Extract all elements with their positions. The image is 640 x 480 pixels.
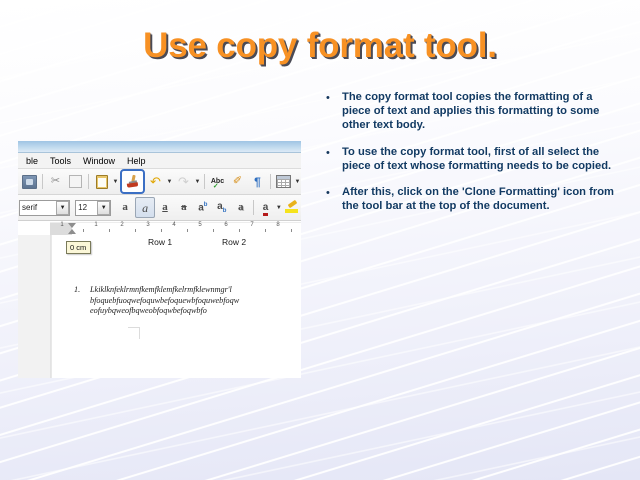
ruler-tick-label: 2 (120, 222, 123, 228)
toolbar-separator (270, 174, 271, 189)
bullet-text: To use the copy format tool, first of al… (342, 145, 618, 173)
document-body-text[interactable]: 1. Lkiklknfeklrmnfkemfklemfkelrmfklewnmg… (90, 285, 300, 317)
toolbar-separator (42, 174, 43, 189)
bullet-list: • The copy format tool copies the format… (326, 90, 618, 225)
insert-table-dropdown-icon[interactable]: ▼ (294, 179, 301, 185)
body-line: eofuybqweofbqweobfoqwbefoqwbfo (90, 306, 300, 317)
bullet-text: After this, click on the 'Clone Formatti… (342, 185, 618, 213)
ruler-tick-label: 8 (276, 222, 279, 228)
table-column-header-row2: Row 2 (222, 237, 246, 247)
print-preview-icon[interactable] (20, 172, 39, 191)
italic-button[interactable]: a (135, 197, 155, 218)
horizontal-ruler[interactable]: 1 1 2 3 4 5 6 7 8 (50, 222, 301, 236)
formatting-marks-icon[interactable]: ¶ (248, 172, 267, 191)
highlighting-button[interactable] (283, 198, 301, 217)
document-page[interactable]: Row 1 Row 2 0 cm 1. Lkiklknfeklrmnfkemfk… (51, 235, 301, 378)
undo-dropdown-icon[interactable]: ▼ (166, 179, 173, 185)
clone-formatting-icon[interactable] (120, 169, 145, 194)
menu-item-help[interactable]: Help (121, 156, 152, 166)
autospellcheck-icon[interactable]: ✐ (228, 172, 247, 191)
font-size-field[interactable]: 12 ▼ (75, 200, 111, 216)
document-area: Row 1 Row 2 0 cm 1. Lkiklknfeklrmnfkemfk… (18, 235, 301, 378)
underline-button[interactable]: a (156, 198, 174, 217)
list-item: • After this, click on the 'Clone Format… (326, 185, 618, 213)
ruler-left-gutter (18, 221, 50, 235)
spelling-icon[interactable]: Abc (208, 172, 227, 191)
text-boundary-corner-mark (128, 327, 140, 339)
font-size-value: 12 (78, 203, 87, 212)
bullet-text: The copy format tool copies the formatti… (342, 90, 618, 133)
copy-icon[interactable] (66, 172, 85, 191)
body-line: Lkiklknfeklrmnfkemfklemfkelrmfklewnmgr'l (90, 285, 300, 296)
font-color-dropdown-icon[interactable]: ▼ (276, 205, 283, 211)
formatting-toolbar: serif ▼ 12 ▼ a a a a ab ab a a ▼ (18, 195, 301, 221)
bullet-marker-icon: • (326, 145, 342, 160)
ruler-area: 1 1 2 3 4 5 6 7 8 (18, 221, 301, 235)
bold-button[interactable]: a (116, 198, 134, 217)
list-number: 1. (74, 285, 80, 296)
menu-item-window[interactable]: Window (77, 156, 121, 166)
redo-icon[interactable]: ↷ (174, 172, 193, 191)
subscript-button[interactable]: ab (213, 198, 231, 217)
embedded-word-processor-screenshot: ble Tools Window Help ✂ ▼ ↶ ▼ ↷ ▼ Abc (18, 141, 301, 378)
paste-dropdown-icon[interactable]: ▼ (112, 179, 119, 185)
strikethrough-button[interactable]: a (175, 198, 193, 217)
list-item: • To use the copy format tool, first of … (326, 145, 618, 173)
redo-dropdown-icon[interactable]: ▼ (194, 179, 201, 185)
page-title: Use copy format tool. (0, 26, 640, 66)
font-size-dropdown-icon[interactable]: ▼ (97, 201, 110, 215)
ruler-position-tooltip: 0 cm (66, 241, 91, 254)
ruler-tick-label: 6 (224, 222, 227, 228)
paste-icon[interactable] (92, 172, 111, 191)
bullet-marker-icon: • (326, 90, 342, 105)
font-color-button[interactable]: a (257, 198, 275, 217)
shadow-button[interactable]: a (232, 198, 250, 217)
menu-item-tools[interactable]: Tools (44, 156, 77, 166)
undo-icon[interactable]: ↶ (146, 172, 165, 191)
superscript-button[interactable]: ab (194, 198, 212, 217)
insert-table-icon[interactable] (274, 172, 293, 191)
ruler-first-line-indent-marker[interactable] (68, 223, 76, 228)
ruler-tick-label: 5 (198, 222, 201, 228)
bullet-marker-icon: • (326, 185, 342, 200)
toolbar-separator (253, 200, 254, 215)
ruler-tick-label: 1 (94, 222, 97, 228)
presentation-slide: Use copy format tool. • The copy format … (0, 0, 640, 480)
standard-toolbar: ✂ ▼ ↶ ▼ ↷ ▼ Abc ✐ ¶ ▼ (18, 169, 301, 195)
ruler-tick-label: 1 (60, 222, 63, 228)
ruler-tick-label: 7 (250, 222, 253, 228)
menu-item-table[interactable]: ble (20, 156, 44, 166)
list-item: • The copy format tool copies the format… (326, 90, 618, 133)
toolbar-separator (204, 174, 205, 189)
ruler-tick-label: 4 (172, 222, 175, 228)
menu-bar: ble Tools Window Help (18, 153, 301, 169)
body-line: bfoquebfuoqwefoquwbefoquewbfoquwebfoqw (90, 296, 300, 307)
font-name-field[interactable]: serif ▼ (19, 200, 70, 216)
font-name-value: serif (22, 203, 37, 212)
table-column-header-row1: Row 1 (148, 237, 172, 247)
vertical-ruler-gutter (18, 235, 51, 378)
font-name-dropdown-icon[interactable]: ▼ (56, 201, 69, 215)
cut-icon[interactable]: ✂ (46, 172, 65, 191)
window-title-bar (18, 141, 301, 153)
ruler-tick-label: 3 (146, 222, 149, 228)
ruler-left-indent-marker[interactable] (68, 229, 76, 234)
toolbar-separator (88, 174, 89, 189)
